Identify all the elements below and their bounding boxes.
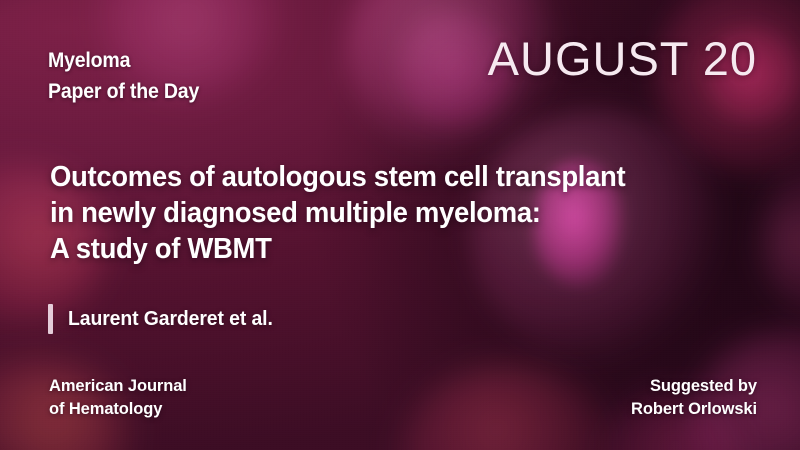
paper-of-the-day-card: Myeloma Paper of the Day AUGUST 20 Outco…: [0, 0, 800, 450]
kicker-line-1: Myeloma: [48, 49, 130, 73]
author-names: Laurent Garderet et al.: [68, 308, 273, 331]
suggested-by-label: Suggested by: [631, 375, 757, 398]
suggested-by-block: Suggested by Robert Orlowski: [631, 375, 757, 421]
paper-title-line: Outcomes of autologous stem cell transpl…: [50, 159, 625, 195]
journal-name-line: American Journal: [49, 375, 187, 398]
paper-title-line: in newly diagnosed multiple myeloma:: [50, 195, 625, 231]
paper-title-line: A study of WBMT: [50, 231, 625, 267]
suggested-by-person: Robert Orlowski: [631, 398, 757, 421]
kicker-line-2: Paper of the Day: [48, 80, 199, 104]
journal-name: American Journal of Hematology: [49, 375, 187, 421]
card-content: Myeloma Paper of the Day AUGUST 20 Outco…: [0, 0, 800, 450]
date-label: AUGUST 20: [488, 35, 757, 82]
journal-name-line: of Hematology: [49, 398, 187, 421]
paper-title: Outcomes of autologous stem cell transpl…: [50, 159, 625, 267]
accent-bar-icon: [48, 304, 53, 334]
author-row: Laurent Garderet et al.: [48, 304, 279, 334]
